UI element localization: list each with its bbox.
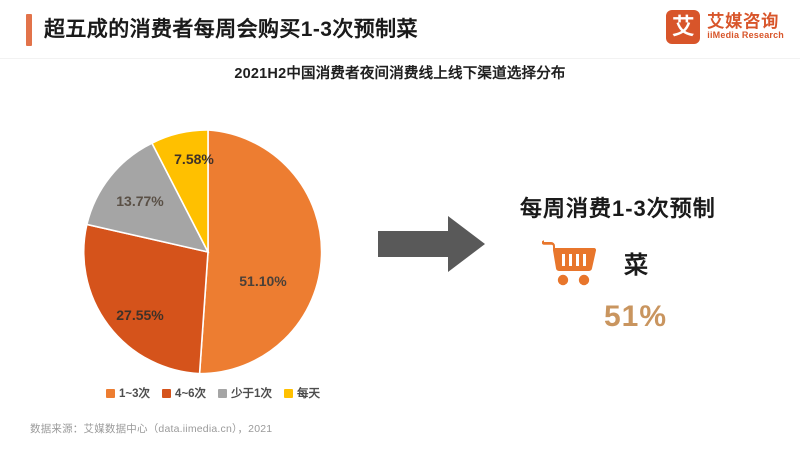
title-accent-bar	[26, 14, 32, 46]
pie-label-4: 7.58%	[174, 151, 214, 167]
chart-subtitle: 2021H2中国消费者夜间消费线上线下渠道选择分布	[0, 62, 800, 83]
legend-swatch-icon-2	[218, 389, 227, 398]
callout-panel: 每周消费1-3次预制 菜 51%	[520, 196, 790, 334]
legend-label-3: 每天	[297, 385, 320, 401]
pie-label-1: 51.10%	[239, 273, 287, 289]
logo-mark-icon: 艾	[666, 10, 700, 44]
legend-label-1: 4~6次	[175, 385, 206, 401]
legend-swatch-icon-1	[162, 389, 171, 398]
pie-chart: 51.10% 27.55% 13.77% 7.58%	[78, 124, 338, 380]
chart-legend: 1~3次 4~6次 少于1次 每天	[78, 385, 348, 401]
data-source-note: 数据来源：艾媒数据中心（data.iimedia.cn），2021	[30, 421, 272, 436]
logo-name-en: iiMedia Research	[707, 31, 784, 40]
right-arrow-icon	[378, 214, 486, 274]
legend-swatch-icon-3	[284, 389, 293, 398]
pie-chart-svg: 51.10% 27.55% 13.77% 7.58%	[78, 124, 338, 380]
legend-item-3[interactable]: 每天	[284, 385, 320, 401]
chart-canvas: 超五成的消费者每周会购买1-3次预制菜 2021H2中国消费者夜间消费线上线下渠…	[0, 0, 800, 450]
legend-item-1[interactable]: 4~6次	[162, 385, 206, 401]
callout-row: 菜	[520, 238, 790, 286]
legend-swatch-icon-0	[106, 389, 115, 398]
pie-slice-1	[200, 130, 322, 374]
legend-item-0[interactable]: 1~3次	[106, 385, 150, 401]
legend-label-2: 少于1次	[231, 385, 272, 401]
callout-headline-second-line: 菜	[624, 245, 649, 280]
pie-label-2: 27.55%	[116, 307, 164, 323]
brand-logo: 艾 艾媒咨询 iiMedia Research	[666, 10, 784, 44]
callout-percent: 51%	[520, 300, 790, 334]
pie-label-3: 13.77%	[116, 193, 164, 209]
logo-text: 艾媒咨询 iiMedia Research	[707, 13, 784, 40]
legend-item-2[interactable]: 少于1次	[218, 385, 272, 401]
legend-label-0: 1~3次	[119, 385, 150, 401]
logo-name-cn: 艾媒咨询	[707, 13, 784, 31]
header-divider	[0, 58, 800, 59]
callout-headline: 每周消费1-3次预制	[520, 196, 790, 222]
shopping-cart-icon	[542, 238, 598, 286]
page-title: 超五成的消费者每周会购买1-3次预制菜	[44, 13, 418, 43]
